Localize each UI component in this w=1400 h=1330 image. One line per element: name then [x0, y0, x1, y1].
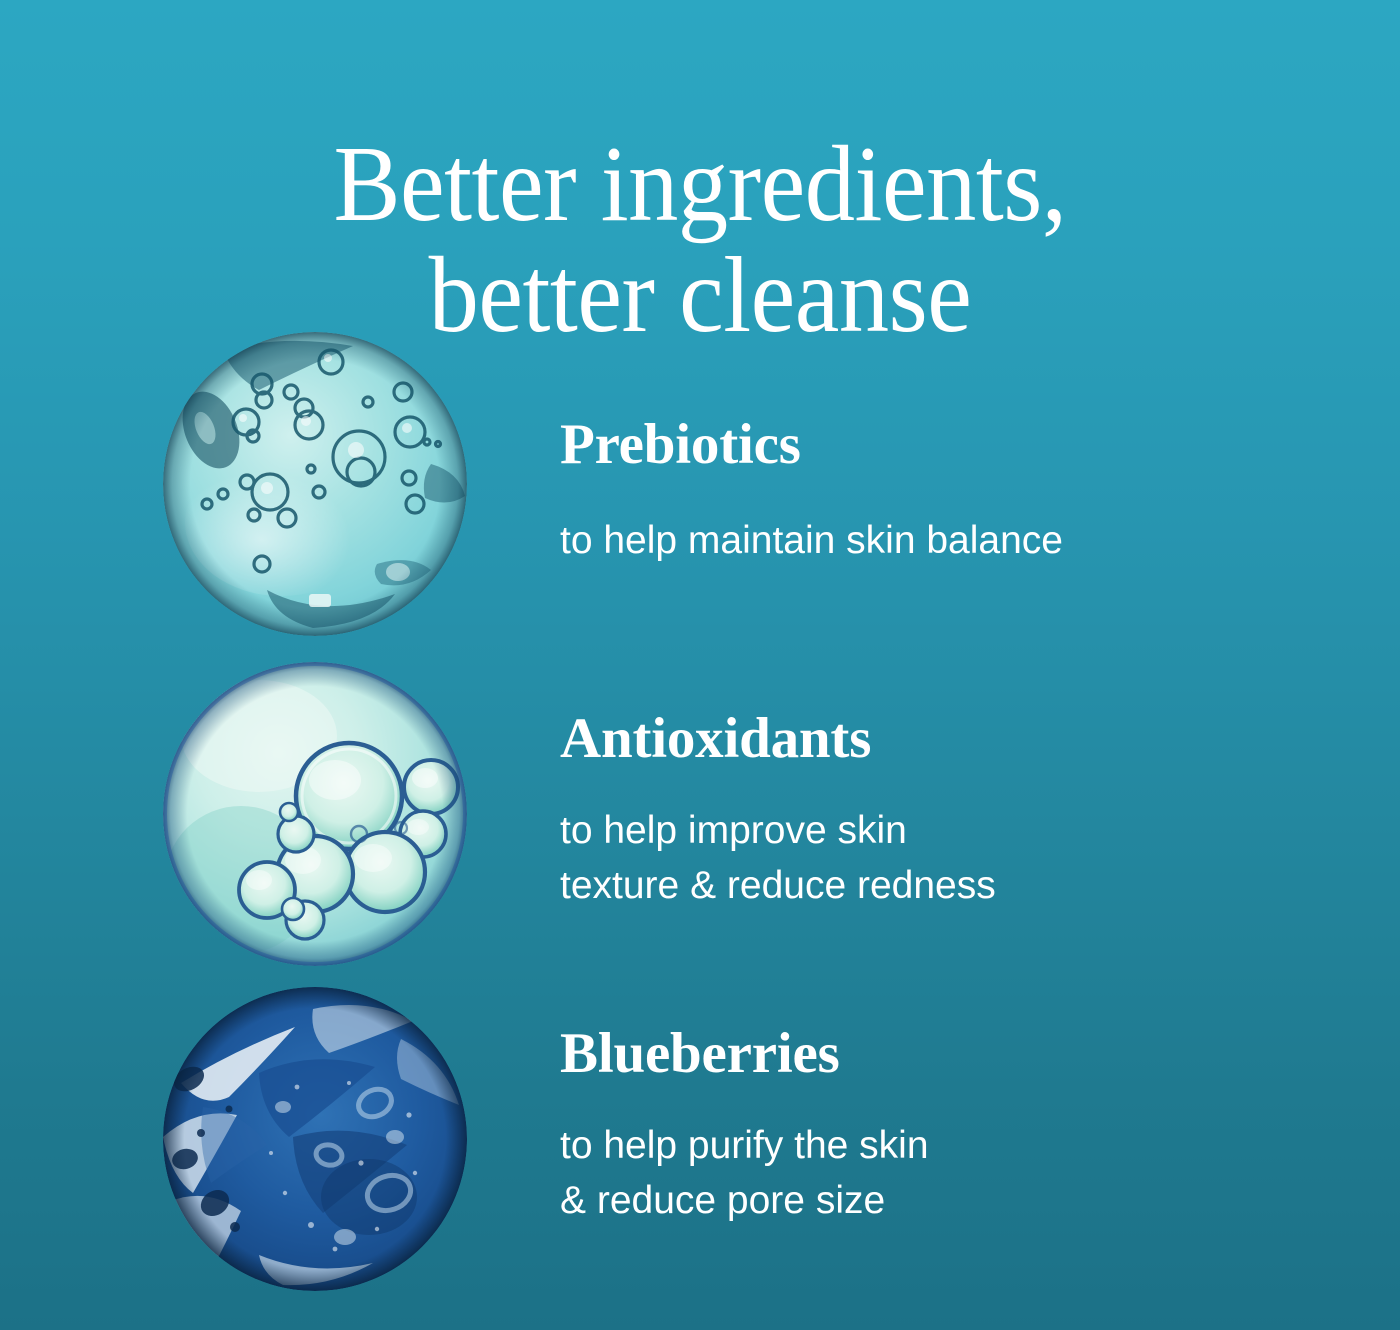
ingredient-description-line-2: texture & reduce redness: [560, 858, 1350, 913]
ingredient-description-line-2: & reduce pore size: [560, 1173, 1350, 1228]
ingredient-title: Antioxidants: [560, 710, 1350, 767]
blueberries-marbled-blue-swatch: [163, 987, 467, 1291]
ingredient-row-blueberries: Blueberries to help purify the skin & re…: [0, 987, 1400, 1317]
ingredient-row-antioxidants: Antioxidants to help improve skin textur…: [0, 662, 1400, 987]
ingredient-title: Blueberries: [560, 1025, 1350, 1082]
ingredients-infographic: Better ingredients, better cleanse: [0, 0, 1400, 1330]
ingredient-title: Prebiotics: [560, 416, 1350, 473]
ingredient-description: to help maintain skin balance: [560, 513, 1350, 568]
ingredient-description-line-1: to help improve skin: [560, 803, 1350, 858]
ingredient-copy-prebiotics: Prebiotics to help maintain skin balance: [560, 416, 1350, 568]
headline-line-1: Better ingredients,: [49, 130, 1351, 240]
ingredient-copy-blueberries: Blueberries to help purify the skin & re…: [560, 1025, 1350, 1229]
ingredient-description-line-1: to help maintain skin balance: [560, 513, 1350, 568]
ingredient-copy-antioxidants: Antioxidants to help improve skin textur…: [560, 710, 1350, 914]
ingredient-list: Prebiotics to help maintain skin balance: [0, 332, 1400, 1317]
ingredient-description: to help purify the skin & reduce pore si…: [560, 1118, 1350, 1229]
prebiotics-gel-bubbles-swatch: [163, 332, 467, 636]
ingredient-description-line-1: to help purify the skin: [560, 1118, 1350, 1173]
page-title: Better ingredients, better cleanse: [49, 130, 1351, 350]
ingredient-row-prebiotics: Prebiotics to help maintain skin balance: [0, 332, 1400, 662]
antioxidants-bubble-cluster-swatch: [163, 662, 467, 966]
ingredient-description: to help improve skin texture & reduce re…: [560, 803, 1350, 914]
